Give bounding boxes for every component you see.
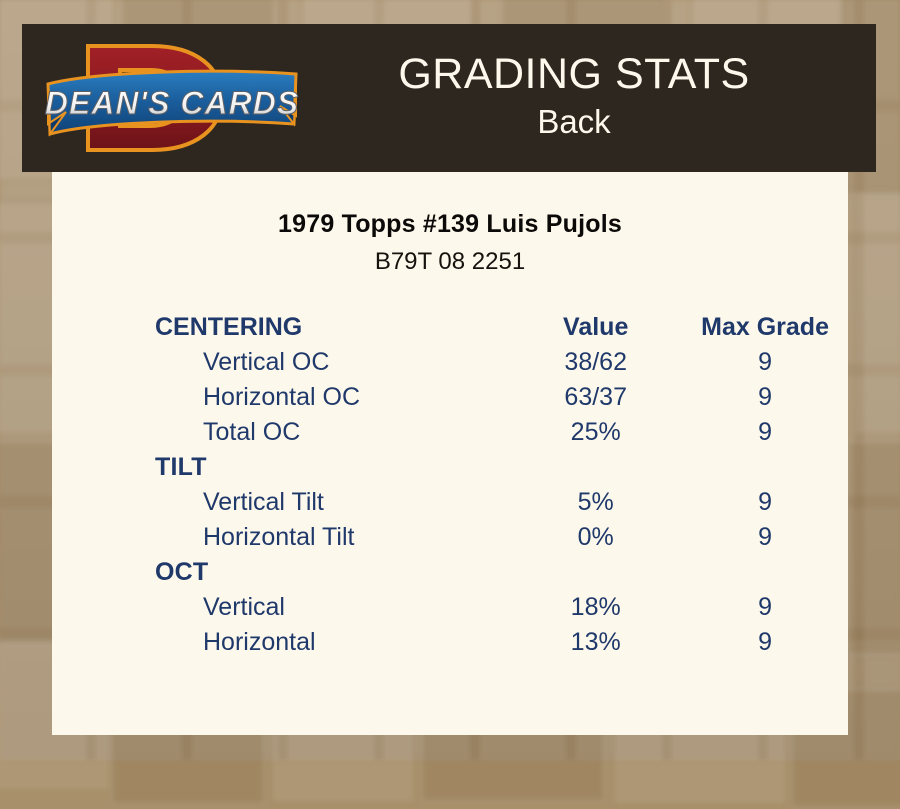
table-header-row: CENTERING Value Max Grade <box>52 310 848 345</box>
grading-stats-table: CENTERING Value Max Grade Vertical OC38/… <box>52 310 848 660</box>
stats-row-label: Vertical OC <box>52 345 509 380</box>
stats-group-row: OCT <box>52 555 848 590</box>
logo-wordmark: DEAN'S CARDS <box>45 85 299 121</box>
column-header-max-grade: Max Grade <box>682 310 848 345</box>
stats-group-spacer <box>682 555 848 590</box>
deans-cards-logo[interactable]: DEAN'S CARDS <box>44 32 302 164</box>
table-row: Horizontal OC63/379 <box>52 380 848 415</box>
stats-row-label: Total OC <box>52 415 509 450</box>
stats-group-label: OCT <box>52 555 509 590</box>
stats-row-label: Horizontal <box>52 625 509 660</box>
stats-row-max-grade: 9 <box>682 485 848 520</box>
page-title: GRADING STATS <box>302 49 846 99</box>
stats-group-spacer <box>509 555 682 590</box>
stats-row-value: 0% <box>509 520 682 555</box>
stats-row-max-grade: 9 <box>682 415 848 450</box>
stats-row-label: Vertical Tilt <box>52 485 509 520</box>
page-subtitle: Back <box>302 101 846 143</box>
table-row: Horizontal Tilt0%9 <box>52 520 848 555</box>
stats-row-value: 63/37 <box>509 380 682 415</box>
stats-row-value: 25% <box>509 415 682 450</box>
stats-row-label: Horizontal Tilt <box>52 520 509 555</box>
stats-row-max-grade: 9 <box>682 590 848 625</box>
stats-row-value: 18% <box>509 590 682 625</box>
deans-cards-logo-icon: DEAN'S CARDS <box>44 32 302 164</box>
stats-row-max-grade: 9 <box>682 625 848 660</box>
stats-row-max-grade: 9 <box>682 345 848 380</box>
stats-row-label: Vertical <box>52 590 509 625</box>
table-row: Vertical18%9 <box>52 590 848 625</box>
table-row: Horizontal13%9 <box>52 625 848 660</box>
table-row: Total OC25%9 <box>52 415 848 450</box>
stats-group-spacer <box>682 450 848 485</box>
app-root: DEAN'S CARDS GRADING STATS Back 1979 Top… <box>0 0 900 760</box>
stats-row-value: 5% <box>509 485 682 520</box>
card-serial-number: B79T 08 2251 <box>52 248 848 276</box>
stats-group-spacer <box>509 450 682 485</box>
background-card-thumb <box>846 440 900 656</box>
column-header-value: Value <box>509 310 682 345</box>
background-card-thumb <box>852 190 900 436</box>
page-header: DEAN'S CARDS GRADING STATS Back <box>22 24 876 172</box>
stats-row-label: Horizontal OC <box>52 380 509 415</box>
column-header-section: CENTERING <box>52 310 509 345</box>
table-row: Vertical Tilt5%9 <box>52 485 848 520</box>
stats-group-label: TILT <box>52 450 509 485</box>
stats-row-max-grade: 9 <box>682 520 848 555</box>
stats-row-value: 38/62 <box>509 345 682 380</box>
header-title-block: GRADING STATS Back <box>302 49 876 143</box>
content-panel: 1979 Topps #139 Luis Pujols B79T 08 2251… <box>52 172 848 735</box>
card-title: 1979 Topps #139 Luis Pujols <box>52 210 848 239</box>
stats-row-max-grade: 9 <box>682 380 848 415</box>
stats-group-row: TILT <box>52 450 848 485</box>
table-row: Vertical OC38/629 <box>52 345 848 380</box>
stats-row-value: 13% <box>509 625 682 660</box>
stats-table-head: CENTERING Value Max Grade <box>52 310 848 345</box>
stats-table-body: Vertical OC38/629Horizontal OC63/379Tota… <box>52 345 848 660</box>
